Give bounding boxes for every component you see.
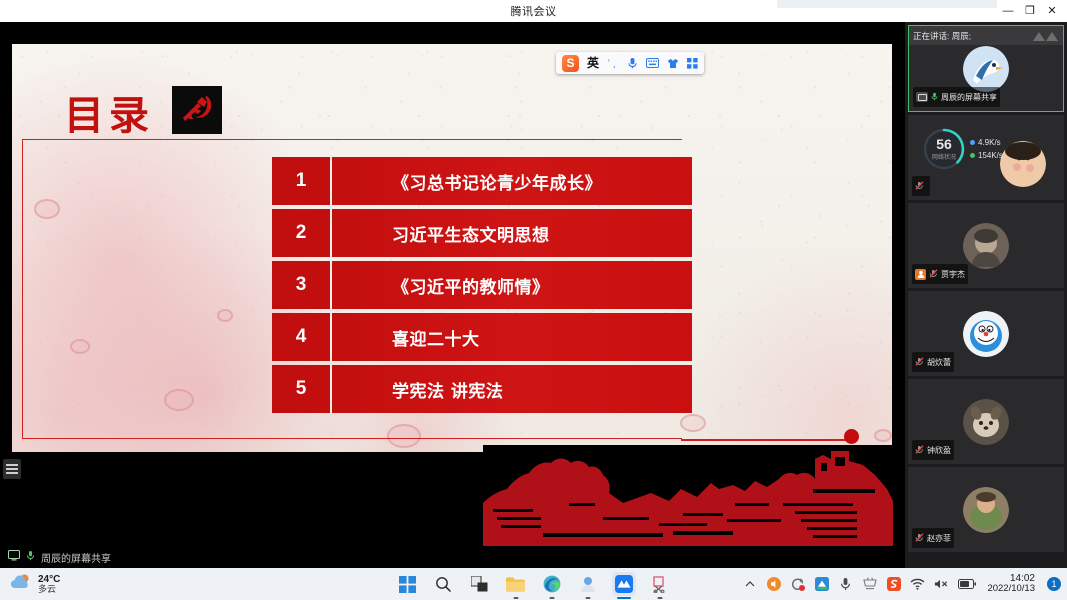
svg-text:,: , bbox=[613, 59, 616, 69]
toc-label: 习近平生态文明思想 bbox=[332, 209, 692, 257]
participant-name-badge: 钟欣盈 bbox=[912, 440, 954, 460]
participant-tile[interactable]: 贾宇杰 bbox=[908, 203, 1064, 288]
minimize-button[interactable]: — bbox=[997, 0, 1019, 22]
great-wall-papercut-art bbox=[483, 445, 893, 546]
participant-tile[interactable]: 胡炊蕾 bbox=[908, 291, 1064, 376]
participant-tile[interactable]: 56 网络状况 4.9K/s 154K/s bbox=[908, 115, 1064, 200]
avatar bbox=[963, 46, 1009, 92]
toc-label: 喜迎二十大 bbox=[332, 313, 692, 361]
participant-name: 赵亦菲 bbox=[927, 533, 951, 544]
network-rates: 4.9K/s 154K/s bbox=[970, 138, 1003, 160]
punctuation-icon[interactable]: ', bbox=[607, 57, 619, 69]
microphone-muted-icon bbox=[915, 177, 924, 195]
share-status-bar: 周辰的屏幕共享 bbox=[0, 546, 905, 568]
toc-number: 2 bbox=[272, 209, 332, 257]
screen-share-icon bbox=[8, 548, 20, 566]
powerpoint-slide: 目录 bbox=[12, 44, 892, 452]
show-hidden-icons-chevron[interactable] bbox=[742, 576, 757, 591]
upload-rate: 4.9K/s bbox=[970, 138, 1003, 147]
microphone-muted-icon bbox=[915, 529, 924, 547]
slide-decoration-line bbox=[681, 439, 851, 441]
toc-number: 5 bbox=[272, 365, 332, 413]
participant-name: 周辰的屏幕共享 bbox=[941, 92, 997, 103]
skin-shirt-icon[interactable] bbox=[667, 58, 679, 69]
host-badge-icon bbox=[915, 269, 926, 280]
share-status-label: 周辰的屏幕共享 bbox=[41, 550, 111, 565]
microphone-muted-icon bbox=[915, 441, 924, 459]
window-controls: — ❐ ✕ bbox=[997, 0, 1063, 22]
snipping-tool-icon[interactable] bbox=[648, 572, 672, 596]
upload-dot-icon bbox=[970, 140, 975, 145]
toc-label: 《习近平的教师情》 bbox=[332, 261, 692, 309]
weather-text: 24°C 多云 bbox=[38, 574, 60, 595]
windows-taskbar: 24°C 多云 bbox=[0, 568, 1067, 600]
participant-name-badge bbox=[912, 176, 930, 196]
menu-line bbox=[6, 464, 18, 466]
app-tray-icon[interactable] bbox=[814, 576, 829, 591]
active-speaker-label: 正在讲话: 周辰; bbox=[913, 30, 971, 42]
screen-share-icon bbox=[916, 92, 928, 102]
menu-line bbox=[6, 468, 18, 470]
list-item[interactable]: 4 喜迎二十大 bbox=[272, 313, 692, 361]
avatar bbox=[963, 223, 1009, 269]
microphone-muted-icon bbox=[929, 265, 938, 283]
list-item[interactable]: 5 学宪法 讲宪法 bbox=[272, 365, 692, 413]
search-icon[interactable] bbox=[432, 572, 456, 596]
microphone-icon bbox=[26, 548, 35, 566]
participant-name: 钟欣盈 bbox=[927, 445, 951, 456]
list-item[interactable]: 2 习近平生态文明思想 bbox=[272, 209, 692, 257]
start-button[interactable] bbox=[396, 572, 420, 596]
wifi-icon[interactable] bbox=[910, 576, 925, 591]
network-quality-label: 网络状况 bbox=[932, 152, 956, 161]
task-view-icon[interactable] bbox=[468, 572, 492, 596]
window-titlebar: 腾讯会议 — ❐ ✕ bbox=[0, 0, 1067, 22]
sogou-logo-icon[interactable]: S bbox=[562, 55, 579, 72]
list-item[interactable]: 3 《习近平的教师情》 bbox=[272, 261, 692, 309]
toc-number: 3 bbox=[272, 261, 332, 309]
download-rate: 154K/s bbox=[970, 151, 1003, 160]
avatar bbox=[963, 399, 1009, 445]
meeting-window-body: 目录 bbox=[0, 22, 1067, 568]
menu-line bbox=[6, 472, 18, 474]
network-percent: 56 网络状况 bbox=[922, 127, 966, 171]
participant-name-badge: 贾宇杰 bbox=[912, 264, 968, 284]
notification-badge[interactable]: 1 bbox=[1047, 577, 1061, 591]
sogou-ime-icon[interactable] bbox=[886, 576, 901, 591]
taskbar-weather-widget[interactable]: 24°C 多云 bbox=[0, 573, 180, 596]
participant-rail: 正在讲话: 周辰; bbox=[905, 22, 1067, 568]
download-rate-value: 154K/s bbox=[978, 151, 1003, 160]
microphone-tray-icon[interactable] bbox=[838, 576, 853, 591]
participant-tile[interactable]: 赵亦菲 bbox=[908, 467, 1064, 552]
list-item[interactable]: 1 《习总书记论青少年成长》 bbox=[272, 157, 692, 205]
ime-mode-toggle[interactable]: 英 bbox=[587, 57, 599, 69]
weather-temperature: 24°C bbox=[38, 574, 60, 585]
sogou-ime-toolbar[interactable]: S 英 ', bbox=[556, 52, 704, 74]
upload-rate-value: 4.9K/s bbox=[978, 138, 1001, 147]
speaker-muted-icon[interactable] bbox=[934, 576, 949, 591]
participant-tile[interactable]: 钟欣盈 bbox=[908, 379, 1064, 464]
participant-tile[interactable]: 正在讲话: 周辰; bbox=[908, 25, 1064, 112]
active-speaker-banner: 正在讲话: 周辰; bbox=[909, 26, 1063, 45]
toc-label: 学宪法 讲宪法 bbox=[332, 365, 692, 413]
avatar bbox=[963, 487, 1009, 533]
contacts-icon[interactable] bbox=[576, 572, 600, 596]
weather-cloud-icon bbox=[10, 573, 32, 596]
battery-icon[interactable] bbox=[958, 576, 976, 591]
avatar bbox=[1000, 141, 1046, 187]
microphone-muted-icon bbox=[915, 353, 924, 371]
edge-browser-icon[interactable] bbox=[540, 572, 564, 596]
toc-number: 4 bbox=[272, 313, 332, 361]
microphone-icon[interactable] bbox=[627, 57, 638, 69]
party-emblem-icon bbox=[172, 86, 222, 134]
sync-icon[interactable] bbox=[790, 576, 805, 591]
participant-name-badge: 周辰的屏幕共享 bbox=[913, 87, 1000, 107]
taskbar-clock[interactable]: 14:02 2022/10/13 bbox=[987, 573, 1035, 595]
network-status-widget[interactable]: 56 网络状况 4.9K/s 154K/s bbox=[922, 127, 1003, 171]
app-grid-icon[interactable] bbox=[687, 58, 698, 69]
participant-name: 胡炊蕾 bbox=[927, 357, 951, 368]
participant-name: 贾宇杰 bbox=[941, 269, 965, 280]
soft-keyboard-icon[interactable] bbox=[646, 58, 659, 68]
audio-wave-icon bbox=[1033, 29, 1059, 47]
system-tray: 14:02 2022/10/13 1 bbox=[742, 573, 1061, 595]
volume-app-icon[interactable] bbox=[766, 576, 781, 591]
close-button[interactable]: ✕ bbox=[1041, 0, 1063, 22]
maximize-button[interactable]: ❐ bbox=[1019, 0, 1041, 22]
network-quality-ring: 56 网络状况 bbox=[922, 127, 966, 171]
download-dot-icon bbox=[970, 153, 975, 158]
participant-name-badge: 赵亦菲 bbox=[912, 528, 954, 548]
ink-blot bbox=[874, 429, 892, 442]
clock-date: 2022/10/13 bbox=[987, 584, 1035, 595]
title-ghost-strip bbox=[777, 0, 997, 8]
network-percent-value: 56 bbox=[936, 137, 952, 151]
slide-title: 目录 bbox=[64, 96, 154, 136]
tencent-meeting-icon[interactable] bbox=[612, 572, 636, 596]
svg-text:': ' bbox=[608, 58, 610, 68]
microphone-icon bbox=[931, 88, 938, 106]
toc-label: 《习总书记论青少年成长》 bbox=[332, 157, 692, 205]
slide-decoration-dot bbox=[844, 429, 859, 444]
table-of-contents: 1 《习总书记论青少年成长》 2 习近平生态文明思想 3 《习近平的教师情》 4… bbox=[272, 157, 692, 417]
file-explorer-icon[interactable] bbox=[504, 572, 528, 596]
taskbar-app-icons bbox=[396, 572, 672, 596]
shopping-tray-icon[interactable] bbox=[862, 576, 877, 591]
shared-screen-stage[interactable]: 目录 bbox=[0, 22, 905, 546]
weather-description: 多云 bbox=[38, 585, 60, 595]
presenter-menu-button[interactable] bbox=[3, 459, 21, 479]
toc-number: 1 bbox=[272, 157, 332, 205]
participant-name-badge: 胡炊蕾 bbox=[912, 352, 954, 372]
window-title: 腾讯会议 bbox=[511, 3, 557, 19]
avatar bbox=[963, 311, 1009, 357]
screen: 腾讯会议 — ❐ ✕ 目录 bbox=[0, 0, 1067, 600]
